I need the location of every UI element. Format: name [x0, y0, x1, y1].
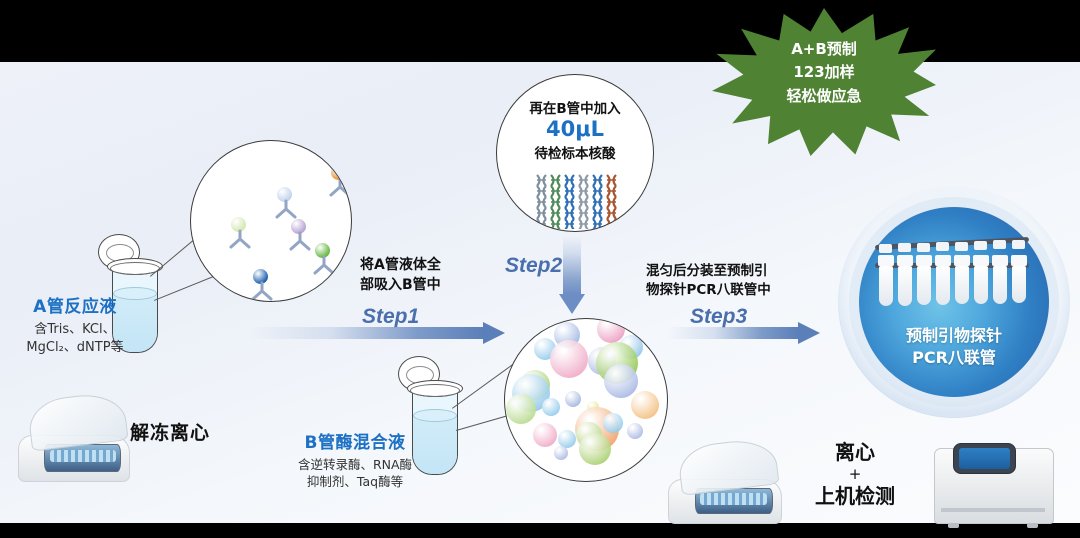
antibody-magnifier-circle — [190, 140, 352, 302]
strip-lid-cap — [993, 240, 1006, 249]
strip-lid-cap — [955, 242, 968, 251]
strip-tube-cap — [878, 255, 894, 266]
antibody-y-arms — [225, 227, 255, 251]
starburst-line1: A+B预制 — [712, 38, 936, 61]
strip-lid-cap — [1012, 240, 1025, 249]
detection-line1: 离心 — [800, 440, 910, 465]
mini-centrifuge-left-icon — [18, 396, 128, 482]
figure-canvas: A管反应液 含Tris、KCl、 MgCl₂、dNTP等 解冻离心 将A管液体全… — [0, 0, 1080, 538]
strip-tube — [879, 266, 893, 306]
mixture-bubble — [565, 391, 581, 407]
mixture-bubble — [604, 364, 638, 398]
starburst-line3: 轻松做应急 — [712, 85, 936, 108]
tube-b-detail-line1: 含逆转录酶、RNA酶 — [240, 457, 470, 474]
step3-caption: 混匀后分装至预制引 物探针PCR八联管中 — [646, 262, 771, 300]
product-label-line1: 预制引物探针 — [859, 325, 1049, 347]
tube-a-detail-line1: 含Tris、KCl、 — [10, 321, 140, 339]
mixture-bubble — [533, 423, 557, 447]
strip-lid-cap — [879, 244, 892, 253]
strip-tube — [974, 266, 988, 304]
detection-label: 离心 + 上机检测 — [800, 440, 910, 509]
strip-tube — [1012, 266, 1026, 303]
mixture-bubble — [579, 433, 611, 465]
strip-tube-cap — [992, 255, 1008, 266]
step2-label: Step2 — [505, 254, 562, 278]
thaw-centrifuge-label: 解冻离心 — [130, 418, 210, 445]
mixture-bubble — [603, 413, 623, 433]
mixture-bubble — [627, 423, 643, 439]
mixture-bubble — [554, 446, 568, 460]
mixture-bubble — [550, 340, 588, 378]
bottom-black-band — [0, 523, 1080, 538]
product-label: 预制引物探针 PCR八联管 — [859, 325, 1049, 368]
tube-b-label-block: B管酶混合液 含逆转录酶、RNA酶 抑制剂、Taq酶等 — [240, 428, 470, 491]
step2-circle-line1: 再在B管中加入 — [497, 97, 653, 117]
strip-lid-cap — [917, 243, 930, 252]
mixture-bubble — [631, 391, 659, 419]
step3-caption-line1: 混匀后分装至预制引 — [646, 262, 771, 281]
step1-caption-line1: 将A管液体全 — [360, 256, 441, 276]
strip-tube-cap — [916, 255, 932, 266]
strip-tube-cap — [973, 255, 989, 266]
strip-tube — [936, 266, 950, 305]
strip-tube-cap — [897, 255, 913, 266]
step1-arrow — [250, 322, 505, 344]
mixture-magnifier-circle — [504, 318, 668, 482]
antibody-y-arms — [309, 253, 339, 277]
nucleic-acid-magnifier-circle: 再在B管中加入 40μL 待检标本核酸 — [496, 74, 654, 232]
dna-helix-icon — [531, 173, 623, 229]
tube-a-detail-line2: MgCl₂、dNTP等 — [10, 339, 140, 357]
tube-b-detail-line2: 抑制剂、Taq酶等 — [240, 474, 470, 491]
green-starburst-badge: A+B预制 123加样 轻松做应急 — [712, 8, 936, 156]
pcr-8-tube-strip-icon — [875, 235, 1033, 313]
antibody-y-arms — [325, 175, 352, 199]
mixture-bubble — [506, 394, 536, 424]
step2-circle-text: 再在B管中加入 40μL 待检标本核酸 — [497, 97, 653, 162]
starburst-line2: 123加样 — [712, 61, 936, 84]
product-callout: 预制引物探针 PCR八联管 — [838, 186, 1070, 418]
starburst-text: A+B预制 123加样 轻松做应急 — [712, 38, 936, 108]
product-circle: 预制引物探针 PCR八联管 — [859, 207, 1049, 397]
mixture-bubble — [542, 398, 560, 416]
strip-lid-cap — [936, 242, 949, 251]
tube-a-label-block: A管反应液 含Tris、KCl、 MgCl₂、dNTP等 — [10, 292, 140, 356]
tube-a-title: A管反应液 — [10, 292, 140, 317]
antibody-y-arms — [331, 281, 352, 302]
step2-volume: 40μL — [497, 117, 653, 142]
mini-centrifuge-right-icon — [668, 442, 780, 524]
antibody-y-arms — [285, 229, 315, 253]
strip-tube-cap — [954, 255, 970, 266]
step1-caption-line2: 部吸入B管中 — [360, 276, 441, 296]
antibody-y-arms — [247, 279, 277, 302]
step2-circle-line3: 待检标本核酸 — [497, 142, 653, 162]
strip-tube-cap — [1011, 255, 1027, 266]
strip-tube-cap — [935, 255, 951, 266]
product-label-line2: PCR八联管 — [859, 347, 1049, 369]
tube-b-title: B管酶混合液 — [240, 428, 470, 453]
step3-caption-line2: 物探针PCR八联管中 — [646, 281, 771, 300]
step3-arrow — [668, 322, 820, 344]
strip-lid-cap — [898, 243, 911, 252]
realtime-pcr-instrument-icon — [934, 440, 1052, 524]
strip-tube — [898, 266, 912, 306]
detection-line3: 上机检测 — [800, 484, 910, 509]
step1-caption: 将A管液体全 部吸入B管中 — [360, 256, 441, 295]
strip-tube — [993, 266, 1007, 304]
strip-tube — [917, 266, 931, 305]
step2-arrow — [559, 236, 585, 314]
detection-plus: + — [800, 465, 910, 484]
tube-b-liquid-surface — [413, 409, 457, 422]
strip-tube — [955, 266, 969, 304]
antibody-y-arms — [271, 197, 301, 221]
strip-lid-cap — [974, 241, 987, 250]
tube-b-rim-inner — [410, 384, 460, 397]
